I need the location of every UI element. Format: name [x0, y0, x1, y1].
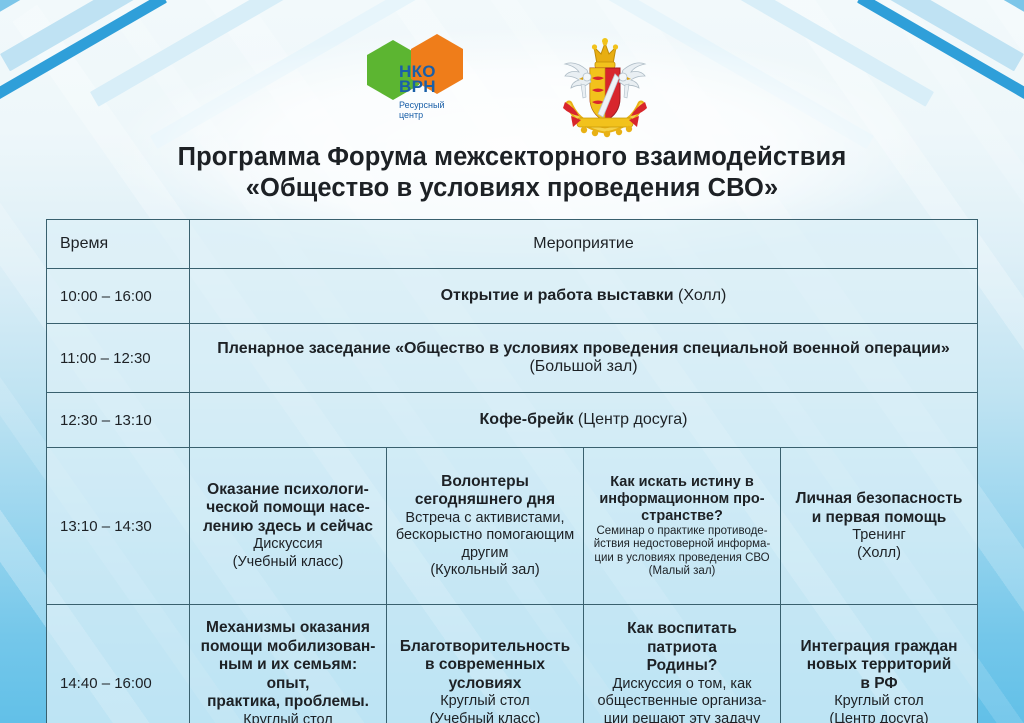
page-title: Программа Форума межсекторного взаимодей…	[0, 142, 1024, 204]
table-header-row: Время Мероприятие	[47, 220, 978, 269]
resource-line1: Ресурсный	[399, 100, 444, 110]
vrn-line: ВРН	[399, 77, 436, 96]
row-event-plenary: Пленарное заседание «Общество в условиях…	[190, 324, 978, 393]
session-detail: Дискуссия о том, какобщественные организ…	[591, 676, 773, 723]
session-detail: Круглый стол(Центр досуга)	[788, 693, 970, 723]
session-cell: Личная безопасностьи первая помощь Трени…	[781, 448, 978, 605]
program-table: Время Мероприятие 10:00 – 16:00 Открытие…	[46, 219, 978, 723]
voronezh-coat-of-arms-logo	[551, 34, 659, 138]
session-detail: Круглый стол(Малый зал)	[197, 712, 379, 723]
row-time-exhibition: 10:00 – 16:00	[47, 269, 190, 324]
coat-of-arms-icon	[551, 34, 659, 138]
session-detail: Семинар о практике противоде-йствия недо…	[591, 525, 773, 579]
session-cell: Механизмы оказанияпомощи мобилизован-ным…	[190, 605, 387, 723]
nko-vrn-wordmark: НКО ВРН	[399, 64, 436, 94]
page-title-line1: Программа Форума межсекторного взаимодей…	[0, 142, 1024, 173]
column-header-time: Время	[47, 220, 190, 269]
exhibition-venue: (Холл)	[674, 287, 727, 304]
session-cell: Волонтерысегодняшнего дня Встреча с акти…	[387, 448, 584, 605]
table-row-sessions-1: 13:10 – 14:30 Оказание психологи-ческой …	[47, 448, 978, 605]
session-heading: Как искать истину винформационном про-ст…	[591, 474, 773, 525]
session-detail: Встреча с активистами,бескорыстно помога…	[394, 510, 576, 580]
row-time-coffee-break: 12:30 – 13:10	[47, 393, 190, 448]
nko-vrn-subtitle: Ресурсный центр	[399, 100, 444, 120]
logo-row: НКО ВРН Ресурсный центр	[0, 34, 1024, 142]
page-title-line2: «Общество в условиях проведения СВО»	[0, 173, 1024, 204]
session-cell: Оказание психологи-ческой помощи насе-ле…	[190, 448, 387, 605]
session-cell: Благотворительностьв современныхусловиях…	[387, 605, 584, 723]
session-cell: Как искать истину винформационном про-ст…	[584, 448, 781, 605]
session-heading: Механизмы оказанияпомощи мобилизован-ным…	[197, 619, 379, 712]
poster-page: НКО ВРН Ресурсный центр	[0, 0, 1024, 723]
table-row-exhibition: 10:00 – 16:00 Открытие и работа выставки…	[47, 269, 978, 324]
session-heading: Интеграция гражданновых территорийв РФ	[788, 638, 970, 694]
table-row-plenary: 11:00 – 12:30 Пленарное заседание «Общес…	[47, 324, 978, 393]
resource-line2: центр	[399, 110, 423, 120]
exhibition-title: Открытие и работа выставки	[441, 287, 674, 304]
session-detail: Круглый стол(Учебный класс)	[394, 693, 576, 723]
row-event-coffee-break: Кофе-брейк (Центр досуга)	[190, 393, 978, 448]
table-row-sessions-2: 14:40 – 16:00 Механизмы оказанияпомощи м…	[47, 605, 978, 723]
session-heading: Как воспитать патриотаРодины?	[591, 620, 773, 676]
session-heading: Благотворительностьв современныхусловиях	[394, 638, 576, 694]
plenary-title: Пленарное заседание «Общество в условиях…	[217, 340, 949, 357]
session-detail: Тренинг(Холл)	[788, 527, 970, 562]
session-cell: Интеграция гражданновых территорийв РФ К…	[781, 605, 978, 723]
session-heading: Оказание психологи-ческой помощи насе-ле…	[197, 481, 379, 537]
plenary-venue: (Большой зал)	[529, 358, 637, 375]
row-time-plenary: 11:00 – 12:30	[47, 324, 190, 393]
table-row-coffee-break: 12:30 – 13:10 Кофе-брейк (Центр досуга)	[47, 393, 978, 448]
coffee-break-venue: (Центр досуга)	[573, 411, 687, 428]
row-time-sessions-2: 14:40 – 16:00	[47, 605, 190, 723]
shield-icon	[590, 68, 620, 121]
session-detail: Дискуссия(Учебный класс)	[197, 536, 379, 571]
row-event-exhibition: Открытие и работа выставки (Холл)	[190, 269, 978, 324]
session-heading: Личная безопасностьи первая помощь	[788, 490, 970, 527]
row-time-sessions-1: 13:10 – 14:30	[47, 448, 190, 605]
session-heading: Волонтерысегодняшнего дня	[394, 473, 576, 510]
session-cell: Как воспитать патриотаРодины? Дискуссия …	[584, 605, 781, 723]
column-header-event: Мероприятие	[190, 220, 978, 269]
crown-icon	[592, 38, 618, 68]
coffee-break-title: Кофе-брейк	[480, 411, 574, 428]
nko-vrn-logo: НКО ВРН Ресурсный центр	[365, 34, 479, 134]
